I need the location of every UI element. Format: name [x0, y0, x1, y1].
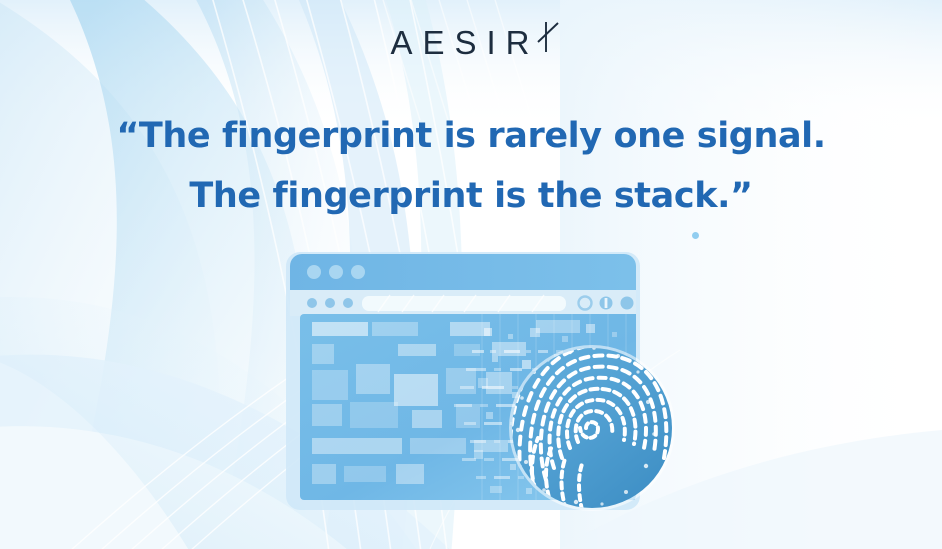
accent-dot	[692, 232, 699, 239]
nav-dot-reload	[343, 298, 353, 308]
quote-line-2: The fingerprint is the stack.”	[0, 166, 942, 226]
nav-dot-forward	[325, 298, 335, 308]
brand-wordmark: AESIR	[380, 26, 539, 59]
nav-dot-back	[307, 298, 317, 308]
quote-line-1: “The fingerprint is rarely one signal.	[0, 106, 942, 166]
brand-logo: AESIR	[0, 26, 942, 59]
window-dot-3	[351, 265, 365, 279]
rune-x-icon	[536, 21, 562, 55]
url-bar	[362, 296, 566, 311]
browser-fingerprint-illustration	[286, 252, 682, 522]
window-dot-2	[329, 265, 343, 279]
circle-bar-icon	[600, 297, 613, 310]
quote-block: “The fingerprint is rarely one signal. T…	[0, 106, 942, 226]
window-dot-1	[307, 265, 321, 279]
circle-filled-icon	[621, 297, 634, 310]
quote-card: AESIR “The fingerprint is rarely one sig…	[0, 0, 942, 549]
